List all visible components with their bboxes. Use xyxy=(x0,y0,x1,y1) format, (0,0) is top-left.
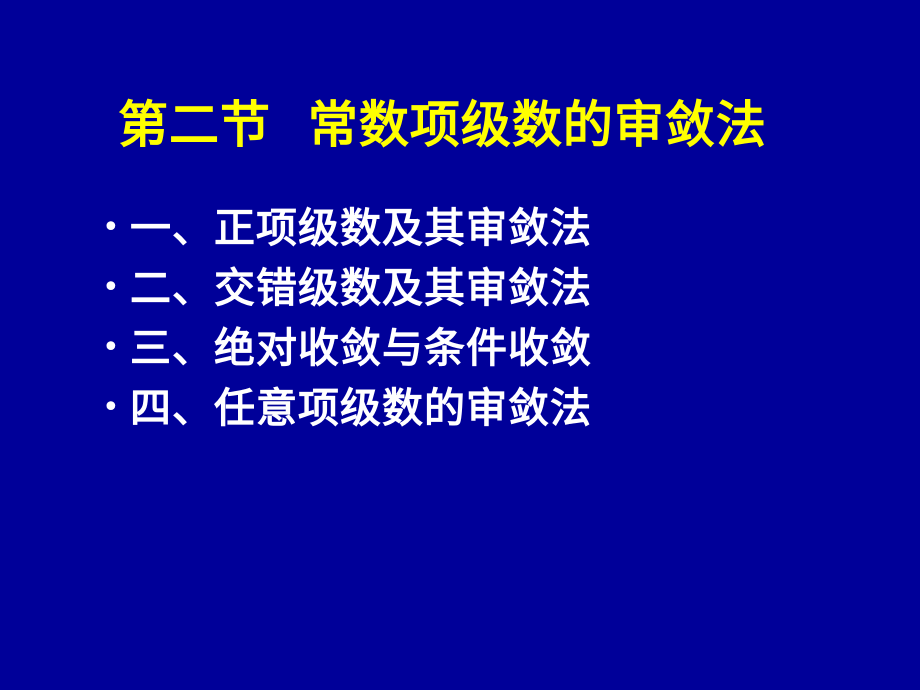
page-title: 第二节 常数项级数的审敛法 xyxy=(118,94,878,156)
list-item[interactable]: • 三、绝对收敛与条件收敛 xyxy=(96,318,856,378)
list-item-label: 四、任意项级数的审敛法 xyxy=(130,378,592,438)
list-item[interactable]: • 四、任意项级数的审敛法 xyxy=(96,378,856,438)
bullet-point-icon: • xyxy=(96,258,130,318)
list-item-label: 二、交错级数及其审敛法 xyxy=(130,258,592,318)
bullet-point-icon: • xyxy=(96,318,130,378)
bullet-point-icon: • xyxy=(96,378,130,438)
list-item-label: 一、正项级数及其审敛法 xyxy=(130,198,592,258)
slide-canvas: 第二节 常数项级数的审敛法 • 一、正项级数及其审敛法 • 二、交错级数及其审敛… xyxy=(0,0,920,690)
outline-list: • 一、正项级数及其审敛法 • 二、交错级数及其审敛法 • 三、绝对收敛与条件收… xyxy=(96,198,856,438)
bullet-point-icon: • xyxy=(96,198,130,258)
list-item[interactable]: • 一、正项级数及其审敛法 xyxy=(96,198,856,258)
list-item-label: 三、绝对收敛与条件收敛 xyxy=(130,318,592,378)
list-item[interactable]: • 二、交错级数及其审敛法 xyxy=(96,258,856,318)
